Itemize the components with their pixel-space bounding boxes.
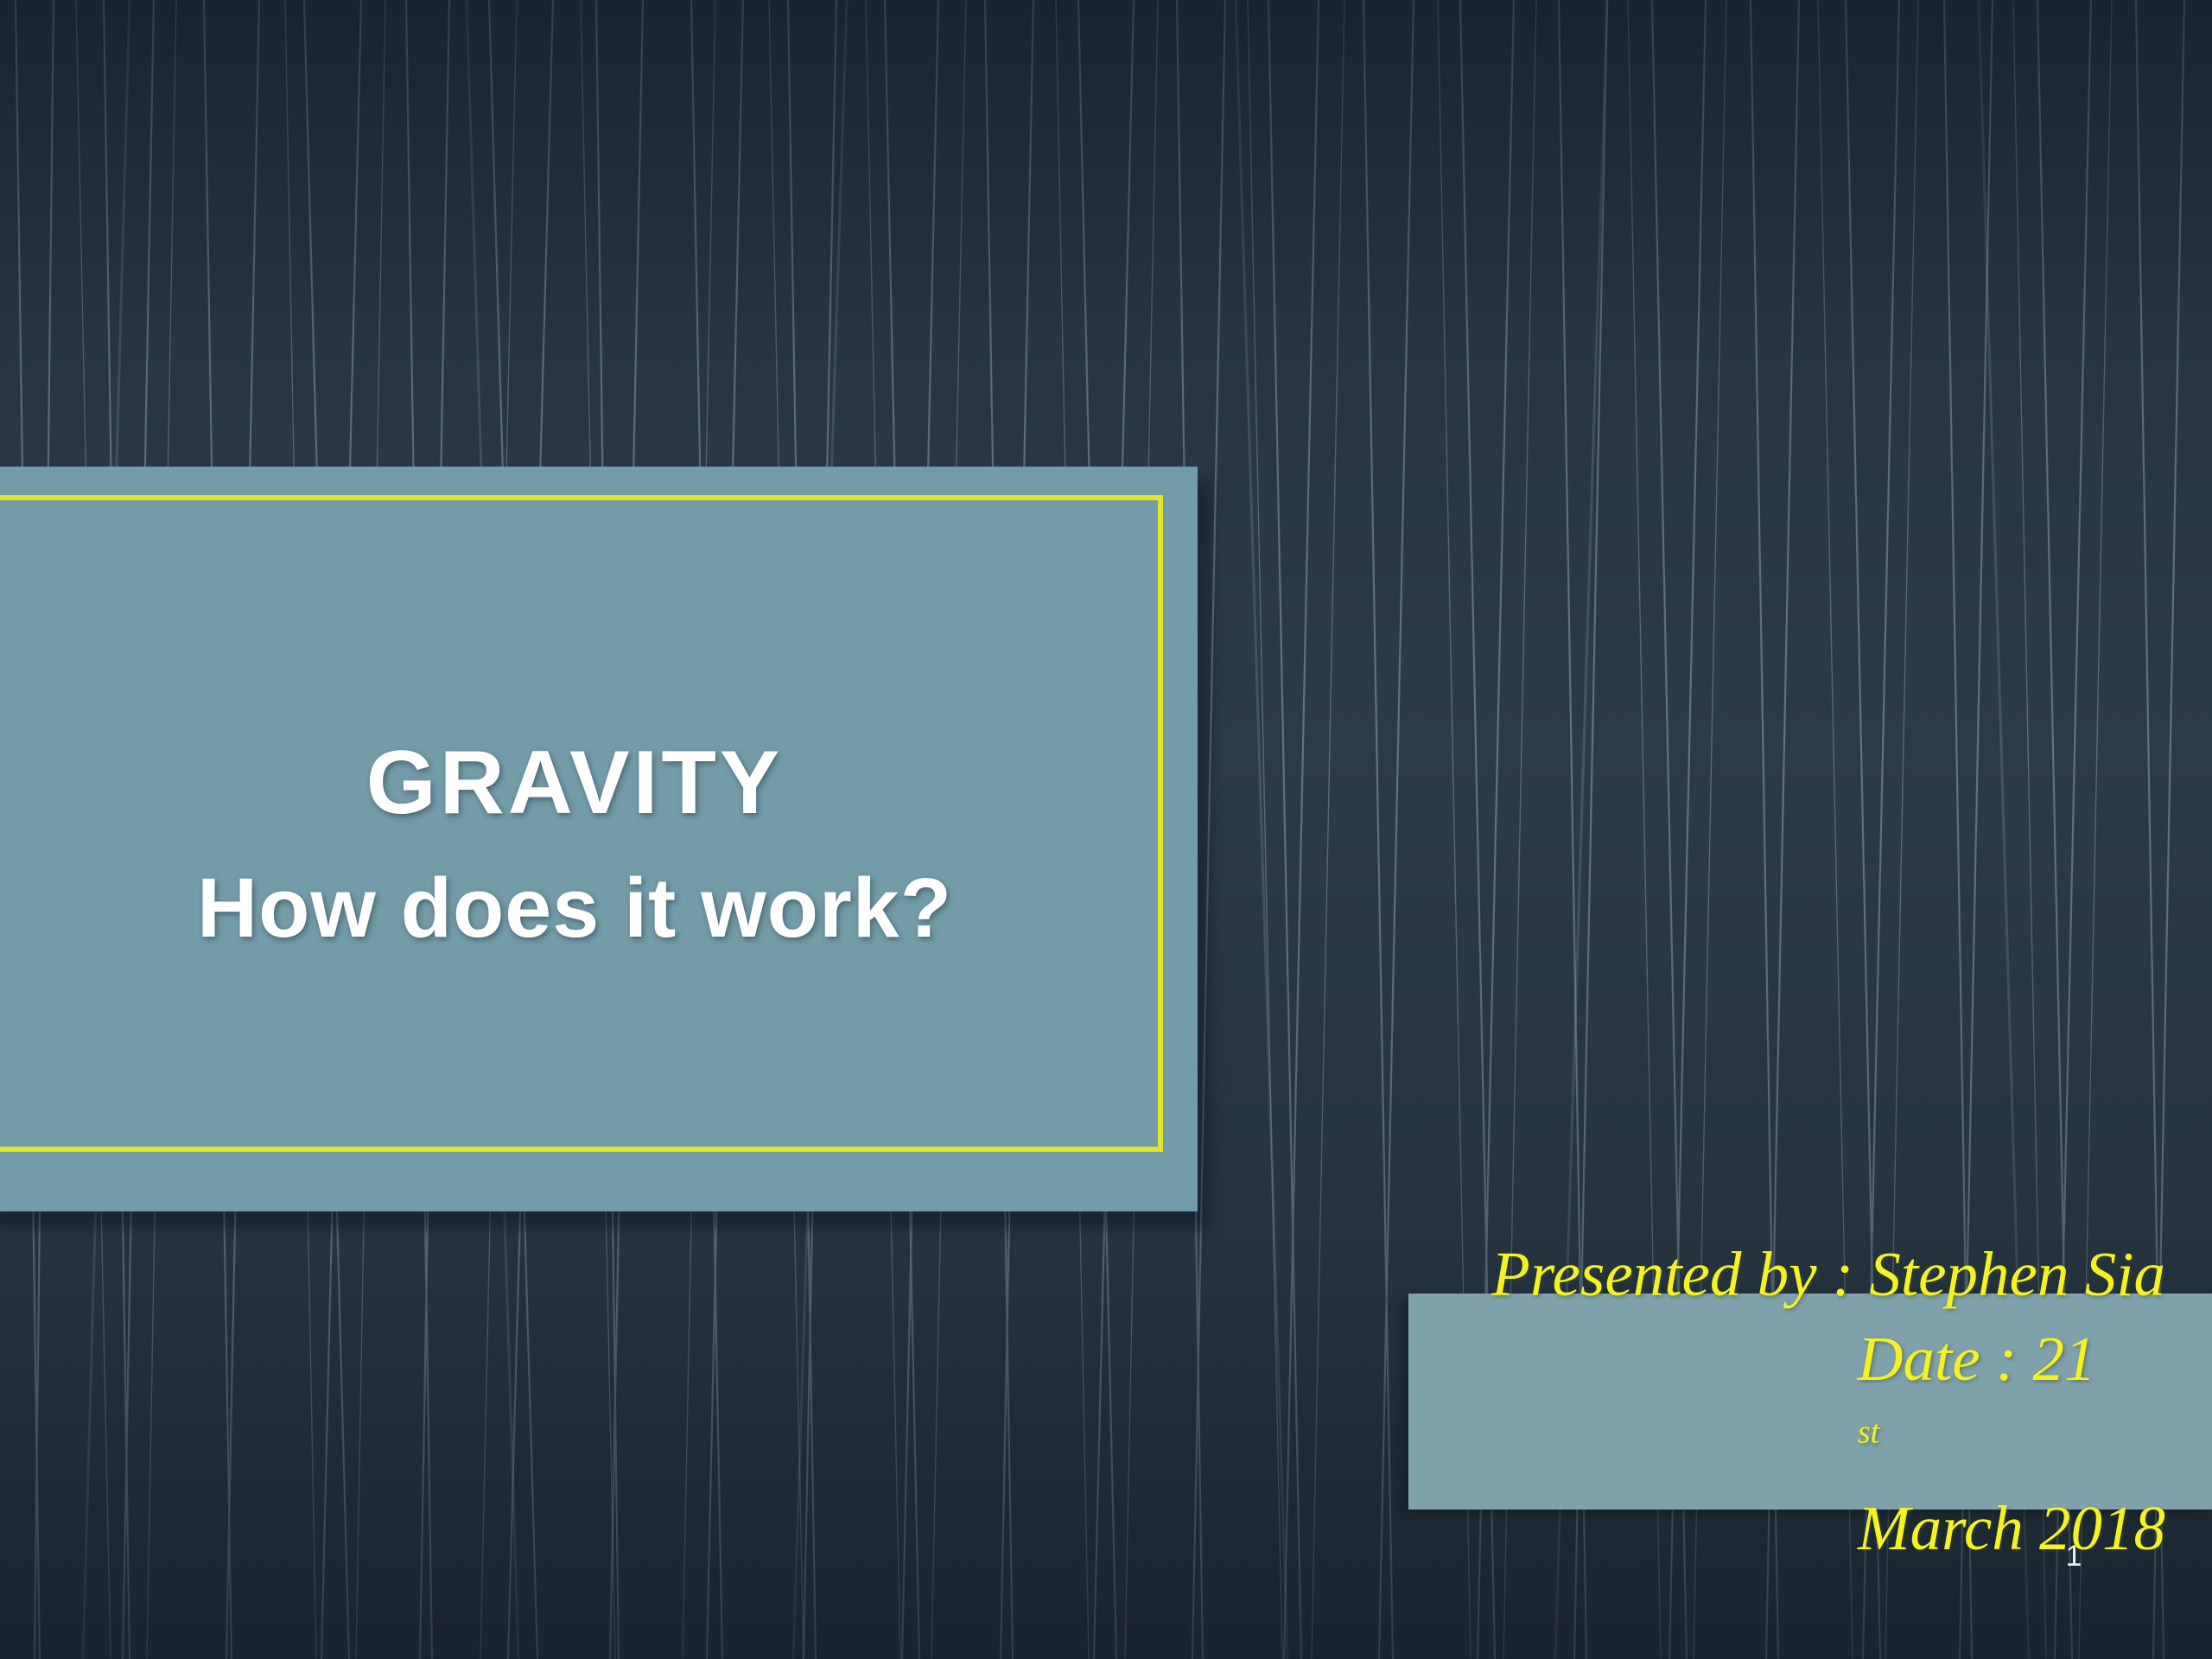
date-line: Date : 21st March 2018 <box>1858 1317 2165 1570</box>
presenter-text-group: Presented by : Stephen Sia Date : 21st M… <box>1408 1294 2165 1510</box>
date-ordinal-suffix: st <box>1858 1414 1879 1451</box>
page-title: GRAVITY <box>0 544 1163 836</box>
presentation-slide: GRAVITY How does it work? Presented by :… <box>0 0 2212 1659</box>
presented-by-line: Presented by : Stephen Sia <box>1491 1232 2165 1317</box>
slide-page-number: 1 <box>2048 1540 2100 1573</box>
date-prefix: Date : 21 <box>1858 1317 2165 1402</box>
page-subtitle: How does it work? <box>0 836 1163 957</box>
date-suffix: March 2018 <box>1858 1486 2165 1571</box>
title-text-group: GRAVITY How does it work? <box>0 544 1163 957</box>
